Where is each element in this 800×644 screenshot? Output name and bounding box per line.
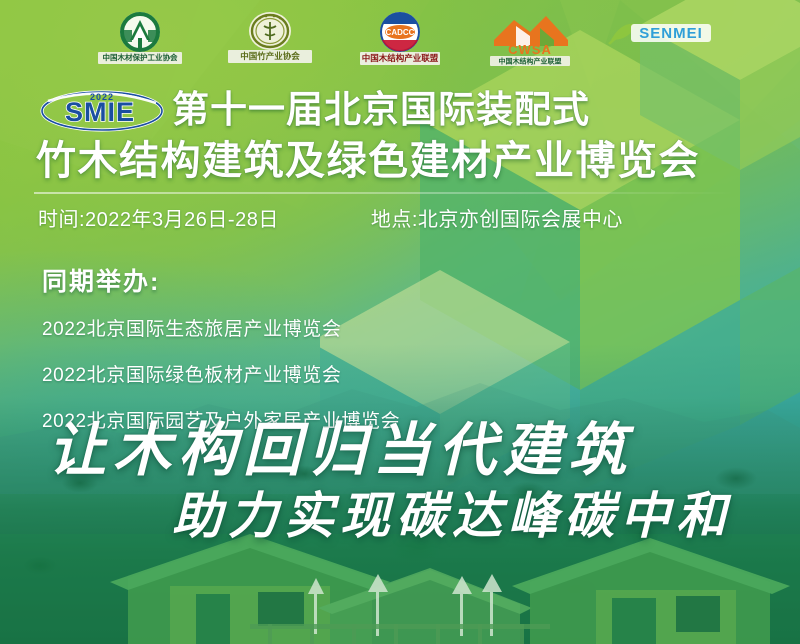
smie-year: 2022 xyxy=(90,92,114,102)
logo-acronym: CWSA xyxy=(508,42,552,57)
expo-poster: 中国木材保护工业协会 中国竹产业协会 xyxy=(0,0,800,644)
concurrent-events-heading: 同期举办: xyxy=(42,262,400,298)
partner-logo-strip: 中国木材保护工业协会 中国竹产业协会 xyxy=(0,8,800,70)
logo-china-wood-protection-association[interactable]: 中国木材保护工业协会 xyxy=(88,10,192,68)
logo-acronym: CADCC xyxy=(386,28,415,37)
title-row-primary: SMIE 2022 第十一届北京国际装配式 xyxy=(0,86,800,134)
page-title-line2: 竹木结构建筑及绿色建材产业博览会 xyxy=(0,136,800,186)
smie-brand-logo: SMIE 2022 xyxy=(38,87,166,133)
event-meta-row: 时间:2022年3月26日-28日 地点:北京亦创国际会展中心 xyxy=(38,203,623,232)
title-block: SMIE 2022 第十一届北京国际装配式 竹木结构建筑及绿色建材产业博览会 xyxy=(0,86,800,186)
slogan-line2: 助力实现碳达峰碳中和 xyxy=(0,486,800,546)
logo-bamboo-industry-association[interactable]: 中国竹产业协会 xyxy=(218,10,322,68)
logo-cadcc-rv-camping-committee[interactable]: CADCC 中国木结构产业联盟 xyxy=(348,10,452,68)
list-item: 2022北京国际生态旅居产业博览会 xyxy=(42,314,400,341)
logo-caption: 中国木结构产业联盟 xyxy=(499,57,562,66)
logo-caption: 中国木结构产业联盟 xyxy=(362,53,439,63)
concurrent-events-list: 2022北京国际生态旅居产业博览会 2022北京国际绿色板材产业博览会 2022… xyxy=(42,314,400,433)
logo-caption: SENMEI xyxy=(639,25,703,42)
slogan-line1: 让木构回归当代建筑 xyxy=(0,418,800,484)
house-roof-icon: CWSA xyxy=(494,16,568,57)
cadcc-seal-icon: CADCC xyxy=(380,12,420,52)
logo-caption: 中国木材保护工业协会 xyxy=(103,52,178,62)
logo-cwsa-china-wood-structure[interactable]: CWSA 中国木结构产业联盟 xyxy=(478,10,582,68)
tree-emblem-icon xyxy=(120,12,160,52)
logo-caption: 中国竹产业协会 xyxy=(240,51,300,61)
page-title-line1: 第十一届北京国际装配式 xyxy=(172,87,590,133)
title-divider xyxy=(34,192,734,194)
slogan-block: 让木构回归当代建筑 助力实现碳达峰碳中和 xyxy=(0,418,800,546)
list-item: 2022北京国际绿色板材产业博览会 xyxy=(42,360,400,387)
wooden-cabins-illustration xyxy=(0,534,800,644)
event-date: 时间:2022年3月26日-28日 xyxy=(38,203,279,232)
bamboo-medal-icon xyxy=(249,12,291,50)
logo-senmei[interactable]: SENMEI xyxy=(608,10,712,68)
event-venue: 地点:北京亦创国际会展中心 xyxy=(371,203,623,232)
